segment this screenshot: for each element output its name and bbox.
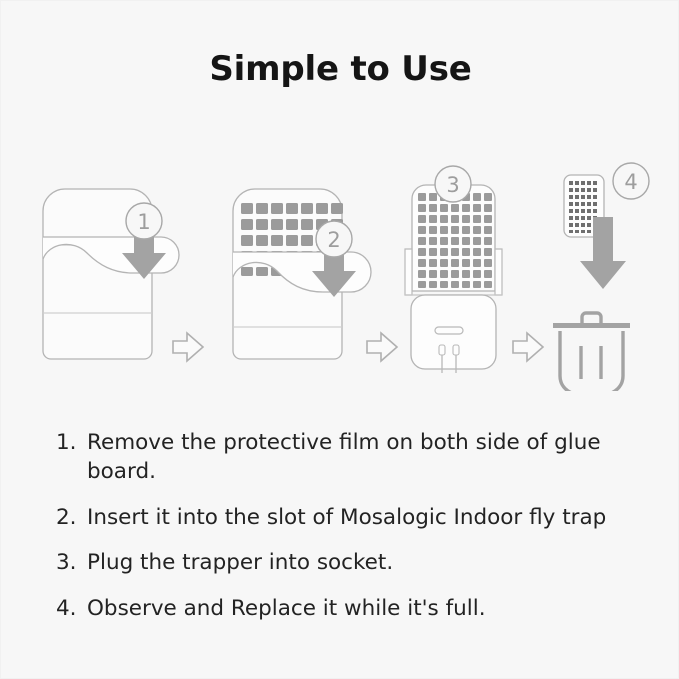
instruction-text: Insert it into the slot of Mosalogic Ind… [87,504,643,533]
plug-prong-right [453,345,459,355]
trash-handle [582,313,601,323]
instruction-text: Observe and Replace it while it's full. [87,595,643,624]
slot-rail-left [405,249,412,295]
instruction-number: 4. [56,595,87,624]
trash-body [560,331,623,391]
step-4-badge: 4 [613,163,649,199]
steps-illustration: 1 [1,151,679,391]
arrow-step-3-to-4 [513,333,543,361]
instruction-number: 3. [56,549,87,578]
right-arrow-icon [173,333,203,361]
trash-can-icon [553,313,630,391]
instruction-item-1: 1. Remove the protective film on both si… [56,429,656,487]
step-3-illustration [405,185,502,373]
arrow-step-1-to-2 [173,333,203,361]
plug-prong-left [439,345,445,355]
step-2-badge: 2 [316,221,352,257]
arrow-step-2-to-3 [367,333,397,361]
instruction-item-3: 3. Plug the trapper into socket. [56,549,656,578]
instruction-number: 2. [56,504,87,533]
glue-grid [418,193,492,288]
instruction-number: 1. [56,429,87,458]
instruction-item-4: 4. Observe and Replace it while it's ful… [56,595,656,624]
trash-lid [553,323,630,328]
right-arrow-icon [513,333,543,361]
slot-rail-right [495,249,502,295]
instructions-list: 1. Remove the protective film on both si… [56,429,656,641]
instruction-graphic: Simple to Use 1 [0,0,679,679]
device-slot [435,327,463,334]
instruction-text: Remove the protective film on both side … [87,429,643,487]
badge-number: 2 [327,228,340,252]
instruction-text: Plug the trapper into socket. [87,549,643,578]
instruction-item-2: 2. Insert it into the slot of Mosalogic … [56,504,656,533]
right-arrow-icon [367,333,397,361]
page-title: Simple to Use [1,49,679,89]
step-3-badge: 3 [435,166,471,202]
badge-number: 3 [446,173,459,197]
badge-number: 4 [624,170,637,194]
badge-number: 1 [137,210,150,234]
step-1-badge: 1 [126,203,162,239]
step-4-illustration [553,175,630,391]
